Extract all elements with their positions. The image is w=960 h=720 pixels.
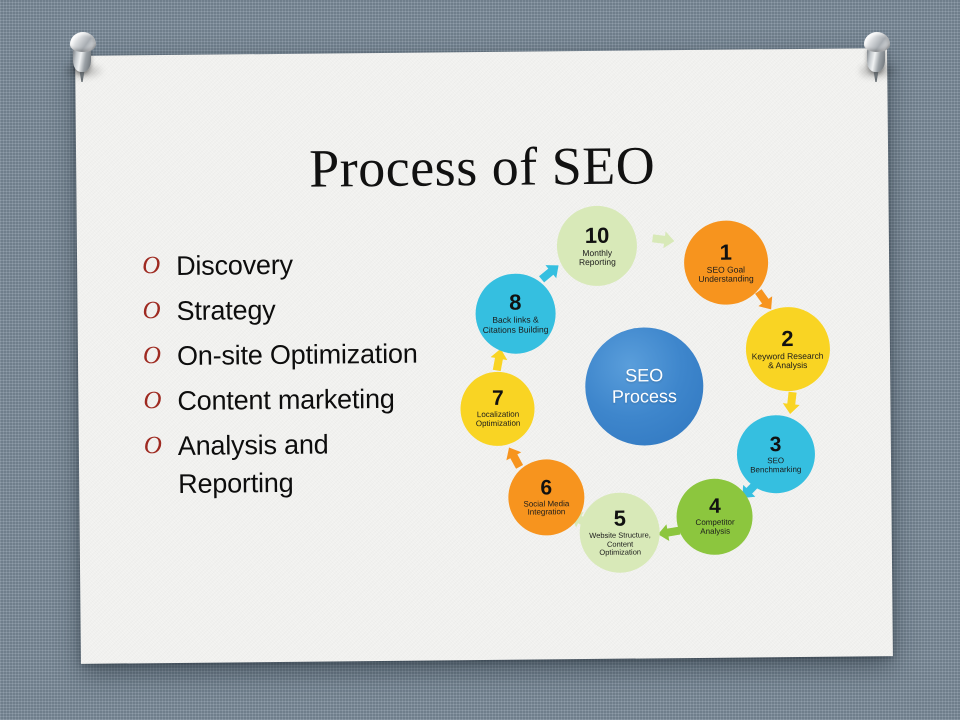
bullet-item-1: ODiscovery — [139, 244, 469, 285]
pushpin-left-head — [70, 32, 96, 52]
bullet-item-5: OAnalysis andReporting — [141, 424, 472, 503]
process-node-number: 3 — [770, 434, 782, 455]
pushpin-left-icon — [64, 32, 102, 84]
arrow-2-to-3 — [782, 391, 801, 415]
process-node-number: 6 — [540, 477, 552, 498]
arrow-10-to-1 — [651, 230, 675, 250]
bullet-list: ODiscoveryOStrategyOOn-site Optimization… — [139, 244, 472, 510]
bullet-item-label: Strategy — [176, 291, 275, 330]
process-node-number: 8 — [509, 292, 521, 314]
process-node-7[interactable]: 7LocalizationOptimization — [461, 371, 536, 446]
process-node-label: Back links &Citations Building — [483, 316, 549, 336]
arrow-shape — [782, 391, 801, 415]
process-node-6[interactable]: 6Social MediaIntegration — [508, 459, 585, 536]
bullet-item-2: OStrategy — [139, 289, 469, 330]
process-node-2[interactable]: 2Keyword Research& Analysis — [745, 307, 830, 392]
process-node-label: SEO GoalUnderstanding — [698, 265, 753, 285]
process-node-label: SEOBenchmarking — [750, 457, 801, 475]
process-node-number: 1 — [720, 241, 732, 263]
seo-process-diagram: 1SEO GoalUnderstanding2Keyword Research&… — [465, 206, 869, 610]
center-node-label: SEO Process — [612, 365, 677, 408]
process-node-number: 5 — [614, 508, 626, 530]
page-title: Process of SEO — [76, 136, 888, 198]
process-node-label: Website Structure,ContentOptimization — [589, 532, 651, 558]
process-node-number: 7 — [492, 388, 504, 409]
arrow-shape — [651, 230, 675, 250]
center-node-seo-process[interactable]: SEO Process — [585, 327, 704, 446]
bullet-marker-icon: O — [140, 337, 177, 375]
bullet-item-label: Discovery — [176, 246, 293, 285]
process-node-1[interactable]: 1SEO GoalUnderstanding — [683, 221, 768, 306]
bullet-item-label: On-site Optimization — [177, 335, 418, 375]
bullet-marker-icon: O — [141, 427, 178, 465]
bullet-marker-icon: O — [139, 292, 176, 330]
arrow-layer — [465, 206, 865, 210]
bullet-marker-icon: O — [139, 247, 176, 285]
bullet-item-4: OContent marketing — [140, 379, 470, 420]
process-node-8[interactable]: 8Back links &Citations Building — [475, 273, 556, 354]
process-node-number: 10 — [585, 225, 610, 247]
bullet-item-label: Content marketing — [177, 380, 395, 420]
process-node-number: 2 — [781, 328, 793, 350]
process-node-label: LocalizationOptimization — [476, 411, 521, 429]
paper-sheet: Process of SEO ODiscoveryOStrategyOOn-si… — [75, 48, 893, 664]
pushpin-right-head — [864, 32, 890, 52]
bullet-item-3: OOn-site Optimization — [140, 334, 470, 375]
process-node-5[interactable]: 5Website Structure,ContentOptimization — [580, 492, 661, 573]
process-node-label: MonthlyReporting — [579, 248, 616, 267]
process-node-label: CompetitorAnalysis — [695, 519, 734, 537]
bullet-item-label: Analysis andReporting — [178, 425, 329, 502]
process-node-label: Keyword Research& Analysis — [752, 351, 824, 371]
process-node-number: 4 — [709, 496, 721, 517]
process-node-label: Social MediaIntegration — [523, 500, 569, 518]
bullet-marker-icon: O — [140, 382, 177, 420]
pushpin-right-icon — [858, 32, 896, 84]
